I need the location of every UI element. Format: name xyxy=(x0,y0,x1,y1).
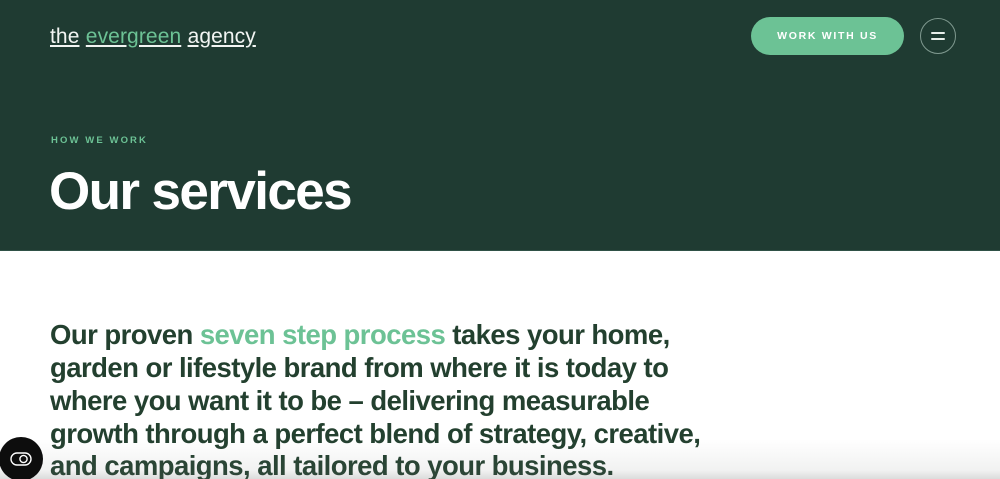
logo-word-agency: agency xyxy=(188,26,256,47)
accessibility-glyph xyxy=(10,452,32,466)
page-root: theevergreenagency WORK WITH US HOW WE W… xyxy=(0,0,1000,479)
hero-eyebrow: HOW WE WORK xyxy=(51,136,148,146)
hamburger-menu-icon[interactable] xyxy=(920,18,956,54)
intro-text-before: Our proven xyxy=(50,319,200,350)
accessibility-widget-icon[interactable] xyxy=(0,437,43,479)
logo-word-evergreen: evergreen xyxy=(86,26,181,47)
site-logo[interactable]: theevergreenagency xyxy=(50,26,256,47)
hamburger-bar-bottom xyxy=(931,38,945,40)
header-actions: WORK WITH US xyxy=(751,17,956,55)
intro-highlight: seven step process xyxy=(200,319,445,350)
intro-section: Our proven seven step process takes your… xyxy=(0,251,1000,479)
site-header: theevergreenagency WORK WITH US xyxy=(0,0,1000,72)
intro-paragraph: Our proven seven step process takes your… xyxy=(50,319,730,479)
hamburger-bar-top xyxy=(931,32,945,34)
logo-word-the: the xyxy=(50,26,80,47)
hero-section: theevergreenagency WORK WITH US HOW WE W… xyxy=(0,0,1000,251)
page-title: Our services xyxy=(49,163,351,220)
work-with-us-button[interactable]: WORK WITH US xyxy=(751,17,904,55)
